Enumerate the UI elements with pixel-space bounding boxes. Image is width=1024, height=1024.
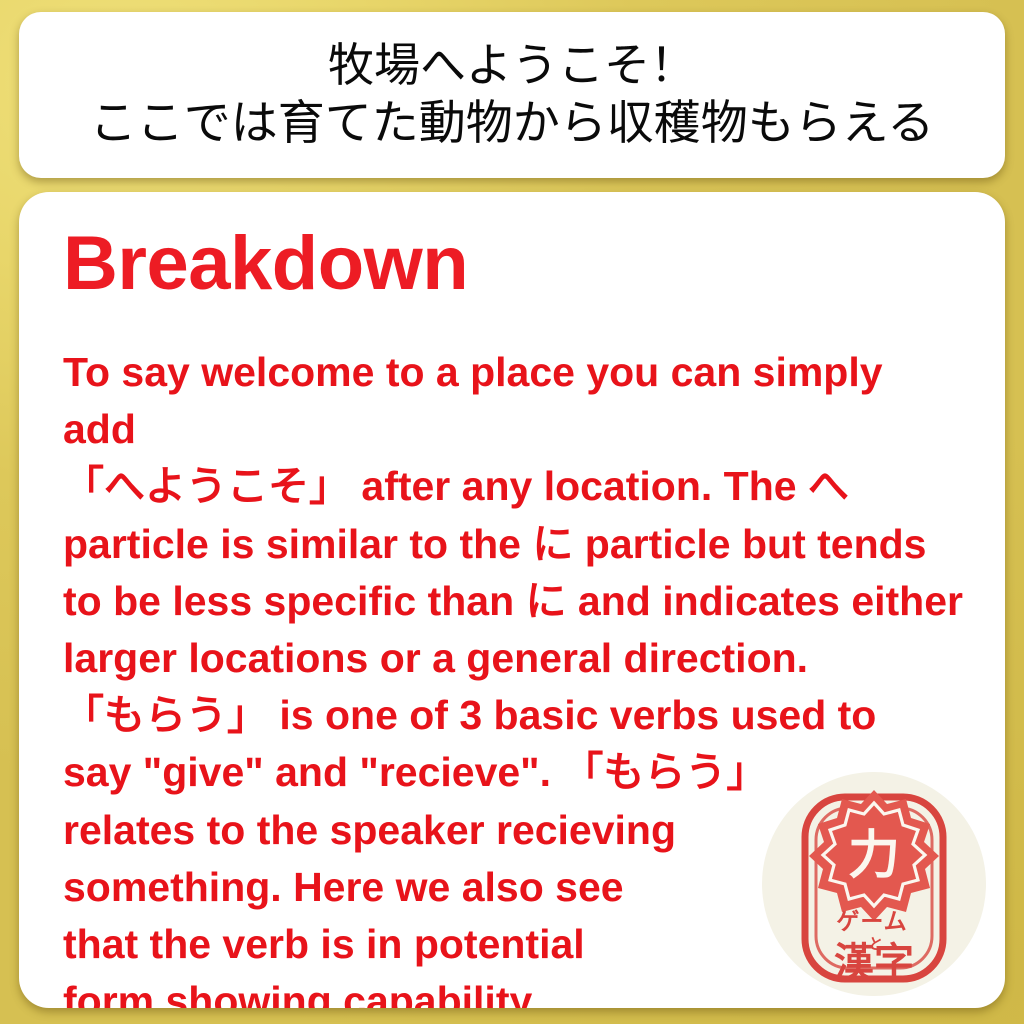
breakdown-body-text: To say welcome to a place you can simply… [63, 344, 963, 1008]
breakdown-title: Breakdown [63, 226, 468, 302]
header-card: 牧場へようこそ！ ここでは育てた動物から収穫物もらえる [19, 12, 1005, 178]
poster-canvas: 牧場へようこそ！ ここでは育てた動物から収穫物もらえる Breakdown To… [0, 0, 1024, 1024]
breakdown-card: Breakdown To say welcome to a place you … [19, 192, 1005, 1008]
header-line-1: 牧場へようこそ！ [328, 37, 696, 94]
header-line-2: ここでは育てた動物から収穫物もらえる [90, 94, 935, 152]
